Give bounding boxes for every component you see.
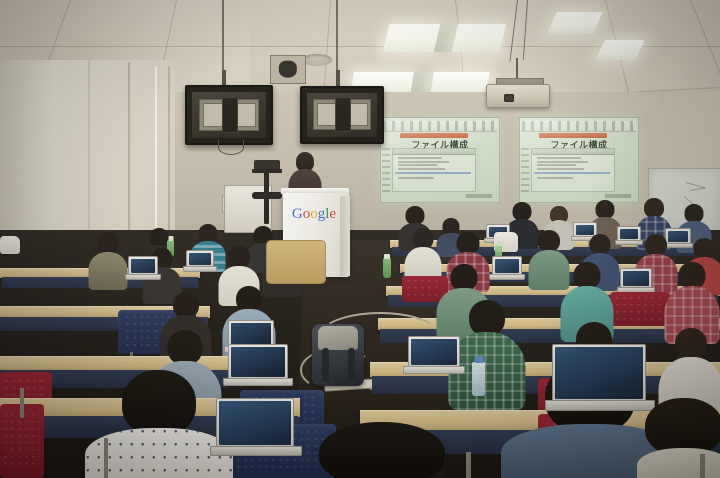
bottle-cap xyxy=(384,254,390,259)
laptop xyxy=(492,256,520,278)
laptop-screen xyxy=(623,271,649,286)
right-projection-screen: ファイル構成 xyxy=(519,117,639,203)
screen-glare xyxy=(381,118,499,202)
laptop xyxy=(186,250,212,270)
chair-wood[interactable] xyxy=(266,240,326,284)
ceiling-light xyxy=(383,24,441,52)
backpack-strap xyxy=(322,348,329,382)
monitor-center-column xyxy=(222,97,238,133)
audience-member-foreground-center xyxy=(318,422,446,478)
laptop-screen xyxy=(555,347,643,399)
head xyxy=(122,370,196,436)
projector-mount-arm xyxy=(516,58,518,80)
head xyxy=(228,246,250,268)
google-logo: Google xyxy=(292,206,336,223)
laptop-lid xyxy=(620,268,652,289)
ceiling-vent xyxy=(302,54,332,66)
monitor-cable xyxy=(218,140,244,155)
monitor-center-column xyxy=(335,97,351,132)
logo-letter-g: G xyxy=(292,206,303,222)
desk-leg xyxy=(20,388,24,418)
laptop-lid xyxy=(216,398,294,448)
av-arm-horizontal xyxy=(252,169,282,173)
audience-member xyxy=(88,232,128,288)
av-arm-vertical xyxy=(264,172,269,194)
av-stand-post xyxy=(264,198,269,224)
laptop-lid xyxy=(492,256,522,276)
laptop-base xyxy=(403,366,465,374)
ceiling-monitor-left xyxy=(185,85,273,145)
laptop-base xyxy=(125,274,161,280)
head xyxy=(168,330,203,365)
head xyxy=(469,300,505,336)
ceiling-light xyxy=(547,12,603,34)
head xyxy=(574,262,601,289)
head xyxy=(590,234,611,255)
bottle-cap xyxy=(496,241,501,246)
laptop-screen xyxy=(219,401,291,445)
water-bottle xyxy=(383,258,391,278)
laptop-base xyxy=(489,274,525,280)
laptop-lid xyxy=(128,256,158,276)
laptop-screen xyxy=(411,339,457,365)
laptop-screen xyxy=(189,253,211,265)
podium-side-panel xyxy=(340,196,350,276)
laptop-lid xyxy=(228,344,288,380)
head xyxy=(694,238,715,259)
laptop-foreground-left xyxy=(216,398,292,456)
bottle-cap xyxy=(474,356,483,363)
laptop-screen xyxy=(131,259,155,273)
head xyxy=(644,198,664,218)
laptop xyxy=(408,336,458,374)
water-bottle xyxy=(472,362,485,396)
head xyxy=(413,228,434,249)
laptop-lid xyxy=(408,336,460,368)
left-projection-screen: ファイル構成 xyxy=(380,117,500,203)
torso xyxy=(89,252,128,290)
desk-leg xyxy=(700,454,705,478)
laptop-base xyxy=(183,266,217,272)
ceiling-projector xyxy=(486,84,550,108)
head xyxy=(679,262,706,289)
laptop-lid xyxy=(552,344,646,402)
backpack-flap xyxy=(318,326,358,350)
screen-glare xyxy=(520,118,638,202)
head xyxy=(675,328,707,360)
chair-red[interactable] xyxy=(610,292,670,326)
head xyxy=(451,264,478,291)
bottle-cap xyxy=(168,236,173,241)
head xyxy=(645,234,667,256)
torso xyxy=(637,448,720,478)
projector-lens xyxy=(504,94,514,101)
laptop-screen xyxy=(231,347,285,377)
backpack-strap xyxy=(348,348,355,380)
laptop xyxy=(228,344,286,386)
head xyxy=(457,232,480,254)
ceiling-light xyxy=(452,24,506,52)
classroom-photo: ファイル構成 ファイル構成 xyxy=(0,0,720,478)
audience-member-foreground-far-right xyxy=(636,398,720,478)
laptop xyxy=(620,268,650,292)
head xyxy=(538,230,560,252)
ceiling-camera-unit xyxy=(270,55,306,84)
laptop xyxy=(128,256,156,278)
laptop-screen xyxy=(495,259,519,273)
plastic-bag xyxy=(0,236,20,254)
head xyxy=(319,422,445,478)
laptop-foreground-right xyxy=(552,344,644,410)
ceiling-drop-rod xyxy=(222,0,224,78)
desk-leg xyxy=(104,438,108,478)
ceiling-monitor-right xyxy=(300,86,384,144)
laptop-base xyxy=(210,446,302,456)
head xyxy=(97,232,119,254)
logo-letter-o2: o xyxy=(310,206,318,222)
desk-leg xyxy=(466,452,471,478)
logo-letter-e: e xyxy=(329,206,336,222)
laptop-screen xyxy=(231,323,271,345)
